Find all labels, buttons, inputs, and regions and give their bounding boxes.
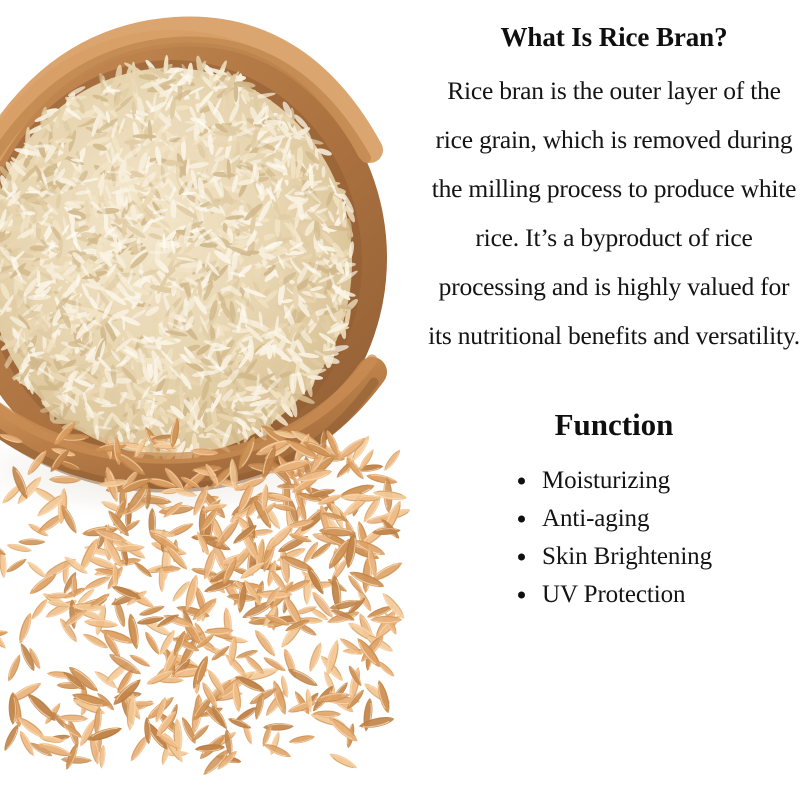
function-item: Skin Brightening <box>516 538 712 576</box>
rice-bran-infographic: What Is Rice Bran? Rice bran is the oute… <box>0 0 800 800</box>
page-title: What Is Rice Bran? <box>428 22 800 53</box>
bullet-icon <box>518 478 525 485</box>
text-content-panel: What Is Rice Bran? Rice bran is the oute… <box>410 0 800 800</box>
rice-bowl-photograph <box>0 0 410 800</box>
function-item: UV Protection <box>516 576 712 614</box>
function-item-label: Moisturizing <box>542 467 670 494</box>
bullet-icon <box>518 516 525 523</box>
function-list: MoisturizingAnti-agingSkin BrighteningUV… <box>428 462 800 614</box>
function-heading: Function <box>428 408 800 442</box>
rice-photo-illustration <box>0 0 410 800</box>
function-item-label: Skin Brightening <box>542 543 712 570</box>
bullet-icon <box>518 554 525 561</box>
function-items-list: MoisturizingAnti-agingSkin BrighteningUV… <box>516 462 712 614</box>
function-item-label: UV Protection <box>542 581 685 608</box>
description-paragraph: Rice bran is the outer layer of the rice… <box>428 66 800 360</box>
bullet-icon <box>518 592 525 599</box>
function-item: Moisturizing <box>516 462 712 500</box>
function-item-label: Anti-aging <box>542 505 649 532</box>
function-item: Anti-aging <box>516 500 712 538</box>
